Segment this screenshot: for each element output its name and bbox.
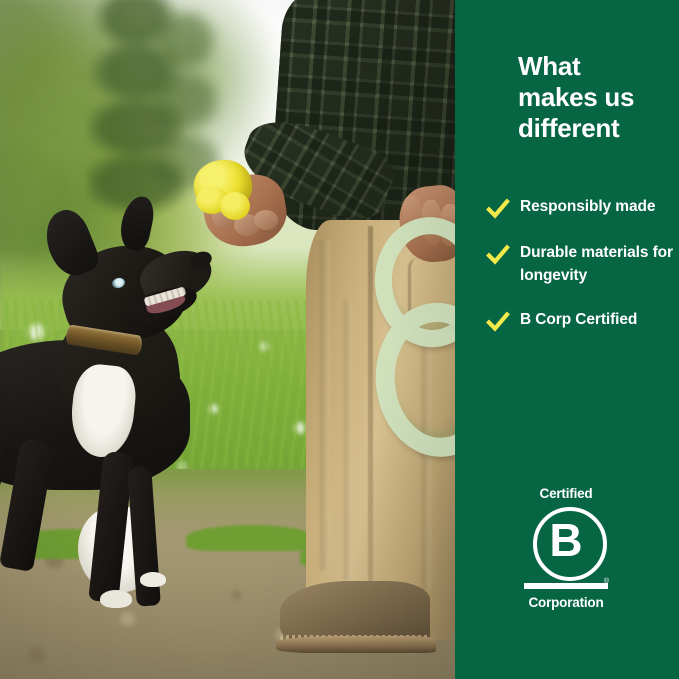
list-item: Durable materials for longevity: [486, 242, 676, 287]
b-corp-certified-logo: Certified B ® Corporation: [524, 486, 608, 611]
pants-fold: [320, 240, 330, 570]
heading-line-2: makes us: [518, 82, 678, 113]
mint-figure-eight-toy: [365, 215, 455, 437]
list-item-label: Responsibly made: [520, 196, 655, 219]
list-item-label: B Corp Certified: [520, 309, 637, 332]
bcorp-letter-b: B: [533, 507, 599, 573]
ball-lobe: [220, 192, 250, 220]
registered-trademark-icon: ®: [604, 578, 609, 585]
pants-fold: [344, 300, 352, 580]
check-icon: [486, 311, 510, 333]
dog-paw: [100, 590, 132, 608]
knuckle: [254, 210, 278, 230]
list-item: B Corp Certified: [486, 309, 676, 333]
check-icon: [486, 244, 510, 266]
list-item: Responsibly made: [486, 196, 676, 220]
person: [232, 0, 455, 679]
toy-ring-lower: [371, 299, 455, 461]
photo-scene: [0, 0, 455, 679]
dog-paw: [140, 572, 166, 587]
product-lifestyle-photo: [0, 0, 455, 679]
value-props-list: Responsibly made Durable materials for l…: [486, 196, 676, 355]
bcorp-corporation-label: Corporation: [524, 595, 608, 611]
dog-ear-right: [117, 193, 158, 252]
dog: [0, 190, 270, 660]
bcorp-divider-bar: [524, 583, 608, 589]
shoe-sole: [276, 636, 436, 653]
bcorp-circle-mark: B ®: [524, 505, 608, 579]
check-icon: [486, 198, 510, 220]
marketing-image: What makes us different Responsibly made: [0, 0, 679, 679]
heading-line-3: different: [518, 113, 678, 144]
heading-line-1: What: [518, 51, 678, 82]
panel-heading: What makes us different: [518, 51, 678, 144]
bcorp-certified-label: Certified: [524, 486, 608, 502]
list-item-label: Durable materials for longevity: [520, 242, 676, 287]
